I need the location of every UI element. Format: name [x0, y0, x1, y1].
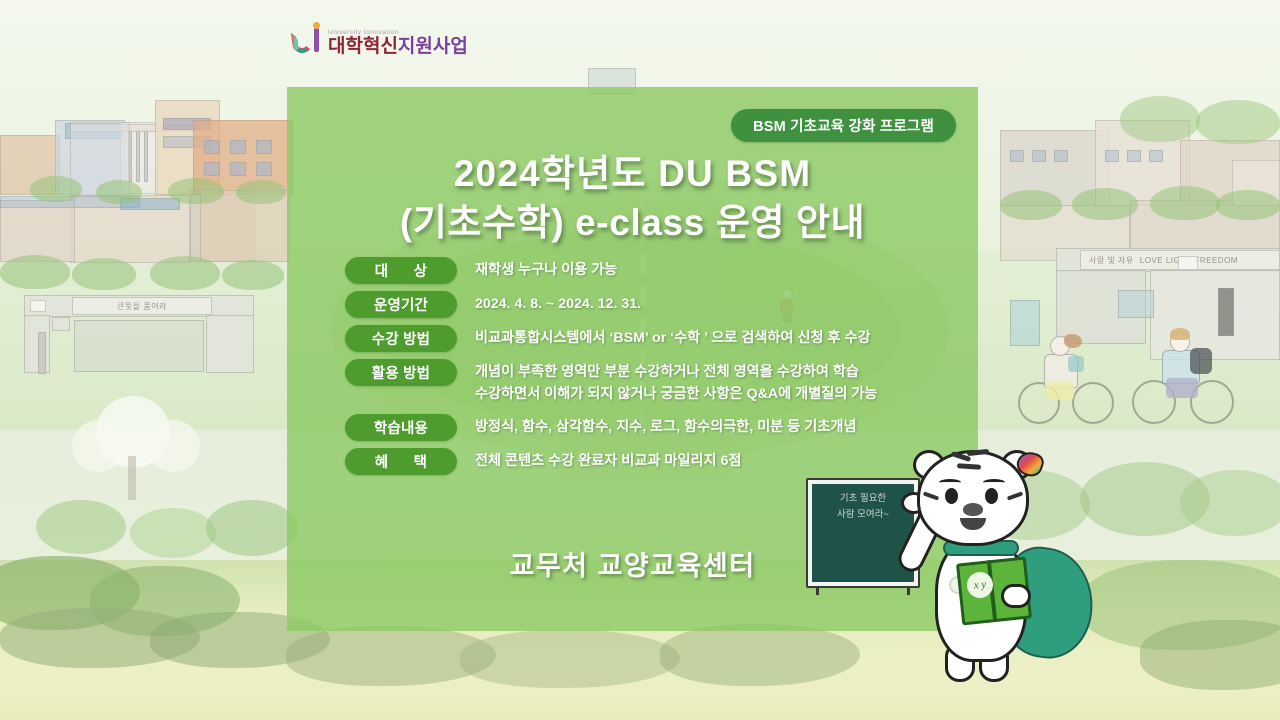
info-row-label: 학습내용 — [345, 414, 457, 441]
blackboard-slate: 기초 필요한 사람 모여라~ — [812, 484, 914, 582]
mascot-nose — [963, 503, 983, 516]
logo-en-text: University Innovation — [328, 29, 468, 36]
mascot-arm-lower — [1001, 584, 1031, 608]
info-row: 활용 방법 개념이 부족한 영역만 부분 수강하거나 전체 영역을 수강하여 학… — [345, 359, 955, 405]
info-row-label: 수강 방법 — [345, 325, 457, 352]
tiger-mascot: x y — [905, 448, 1115, 710]
info-row: 학습내용 방정식, 함수, 삼각함수, 지수, 로그, 함수의극한, 미분 등 … — [345, 414, 955, 441]
title-line-2: (기초수학) e-class 운영 안내 — [287, 198, 978, 247]
cyclist-right — [1128, 324, 1254, 426]
cyclist-left — [1016, 330, 1136, 426]
page-title: 2024학년도 DU BSM (기초수학) e-class 운영 안내 — [287, 149, 978, 247]
gate-left-sign-text: 큰뜻을 품어라 — [72, 297, 212, 315]
info-row-value: 2024. 4. 8. ~ 2024. 12. 31. — [475, 291, 955, 316]
info-row: 수강 방법 비교과통합시스템에서 ‘BSM’ or ‘수학 ’ 으로 검색하여 … — [345, 325, 955, 352]
logo-ko-text: 대학혁신지원사업 — [328, 37, 468, 56]
info-row-label: 활용 방법 — [345, 359, 457, 386]
info-row-label: 혜 택 — [345, 448, 457, 475]
logo-ko-part2: 지원사업 — [398, 36, 468, 57]
mascot-eye-right — [985, 488, 998, 504]
info-rows: 대 상 재학생 누구나 이용 가능 운영기간 2024. 4. 8. ~ 202… — [345, 257, 955, 482]
info-row-value: 방정식, 함수, 삼각함수, 지수, 로그, 함수의극한, 미분 등 기초개념 — [475, 414, 955, 439]
blackboard: 기초 필요한 사람 모여라~ — [806, 478, 920, 588]
blackboard-leg-left — [816, 587, 819, 595]
blackboard-line-1: 기초 필요한 — [818, 491, 908, 507]
info-row-value: 개념이 부족한 영역만 부분 수강하거나 전체 영역을 수강하여 학습 — [475, 364, 859, 380]
gate-right-sign-ko: 사랑 빛 자유 — [1089, 255, 1134, 266]
info-row-value-second-line: 수강하면서 이해가 되지 않거나 궁금한 사항은 Q&A에 개별질의 가능 — [475, 384, 955, 406]
program-badge: BSM 기초교육 강화 프로그램 — [731, 109, 956, 142]
mascot-eye-left — [945, 488, 958, 504]
title-line-1: 2024학년도 DU BSM — [287, 149, 978, 198]
info-row: 혜 택 전체 콘텐츠 수강 완료자 비교과 마일리지 6점 — [345, 448, 955, 475]
info-row-label: 운영기간 — [345, 291, 457, 318]
info-row-value-multiline: 개념이 부족한 영역만 부분 수강하거나 전체 영역을 수강하여 학습 수강하면… — [475, 359, 955, 405]
info-row-value: 전체 콘텐츠 수강 완료자 비교과 마일리지 6점 — [475, 448, 955, 473]
info-row: 운영기간 2024. 4. 8. ~ 2024. 12. 31. — [345, 291, 955, 318]
logo-text: University Innovation 대학혁신지원사업 — [328, 29, 468, 56]
logo: University Innovation 대학혁신지원사업 — [292, 16, 468, 56]
blackboard-line-2: 사람 모여라~ — [818, 507, 908, 523]
info-row: 대 상 재학생 누구나 이용 가능 — [345, 257, 955, 284]
mascot-eyebrow-left — [939, 479, 961, 486]
mascot-eyebrow-right — [983, 479, 1005, 486]
poster-root: 큰뜻을 품어라 사랑 빛 자유 LOVE LIGHT FREEDOM — [0, 0, 1280, 720]
info-row-value: 재학생 누구나 이용 가능 — [475, 257, 955, 282]
logo-mark-icon — [292, 22, 324, 56]
info-row-label: 대 상 — [345, 257, 457, 284]
logo-ko-part1: 대학혁신 — [328, 36, 398, 57]
info-row-value: 비교과통합시스템에서 ‘BSM’ or ‘수학 ’ 으로 검색하여 신청 후 수… — [475, 325, 955, 350]
